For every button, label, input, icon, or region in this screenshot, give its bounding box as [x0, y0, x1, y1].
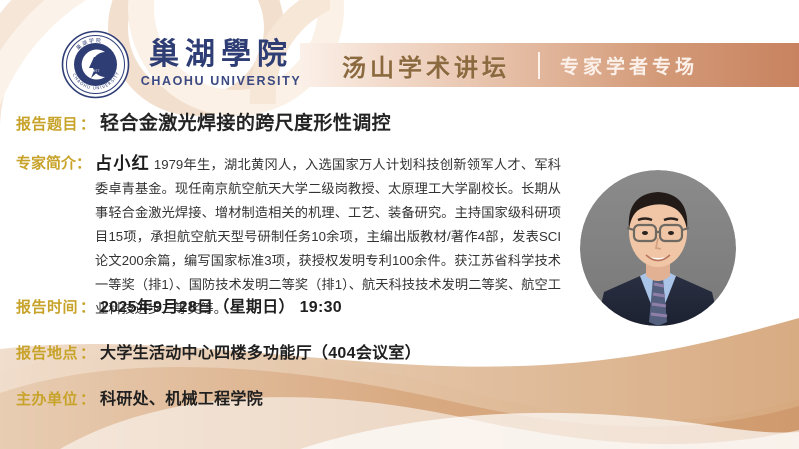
lecture-poster: 1977 巢 湖 学 院 CHAOHU UNIVERSITY 巢湖學院 CHAO… — [0, 0, 799, 449]
poster-header: 1977 巢 湖 学 院 CHAOHU UNIVERSITY 巢湖學院 CHAO… — [0, 0, 799, 104]
university-name-en: CHAOHU UNIVERSITY — [136, 74, 306, 88]
meta-row-location: 报告地点 ： 大学生活动中心四楼多功能厅（404会议室） — [16, 339, 421, 363]
banner-subtitle: 专家学者专场 — [560, 52, 698, 79]
meta-value-organizer: 科研处、机械工程学院 — [100, 385, 263, 409]
meta-value-time: 2025年9月28日（星期日） 19:30 — [100, 293, 342, 317]
meta-row-time: 报告时间 ： 2025年9月28日（星期日） 19:30 — [16, 293, 421, 317]
speaker-portrait-photo — [580, 170, 736, 326]
series-banner: 汤山学术讲坛 专家学者专场 — [300, 43, 799, 87]
chaohu-university-seal-icon: 1977 巢 湖 学 院 CHAOHU UNIVERSITY — [61, 30, 130, 99]
meta-label-location: 报告地点 — [16, 342, 78, 363]
meta-colon-time: ： — [78, 296, 97, 317]
report-title-row: 报告题目 ： 轻合金激光焊接的跨尺度形性调控 — [16, 113, 391, 135]
banner-divider — [538, 52, 540, 79]
speaker-bio-label: 专家简介： — [16, 152, 91, 176]
report-title-value: 轻合金激光焊接的跨尺度形性调控 — [100, 113, 391, 135]
report-title-label: 报告题目 — [16, 113, 78, 134]
speaker-name: 占小红 — [95, 154, 150, 173]
meta-value-location: 大学生活动中心四楼多功能厅（404会议室） — [100, 339, 421, 363]
svg-text:1977: 1977 — [91, 69, 99, 73]
meta-label-time: 报告时间 — [16, 296, 78, 317]
event-meta-list: 报告时间 ： 2025年9月28日（星期日） 19:30 报告地点 ： 大学生活… — [16, 293, 421, 431]
meta-colon-organizer: ： — [78, 388, 97, 409]
speaker-bio-colon: ： — [76, 155, 91, 172]
banner-title: 汤山学术讲坛 — [342, 48, 510, 83]
university-name-block: 巢湖學院 CHAOHU UNIVERSITY — [136, 38, 306, 88]
university-name-cn: 巢湖學院 — [136, 38, 306, 72]
meta-colon-location: ： — [78, 342, 97, 363]
speaker-bio-label-text: 专家简介 — [16, 155, 76, 172]
report-title-colon: ： — [78, 113, 97, 134]
meta-label-organizer: 主办单位 — [16, 388, 78, 409]
meta-row-organizer: 主办单位 ： 科研处、机械工程学院 — [16, 385, 421, 409]
